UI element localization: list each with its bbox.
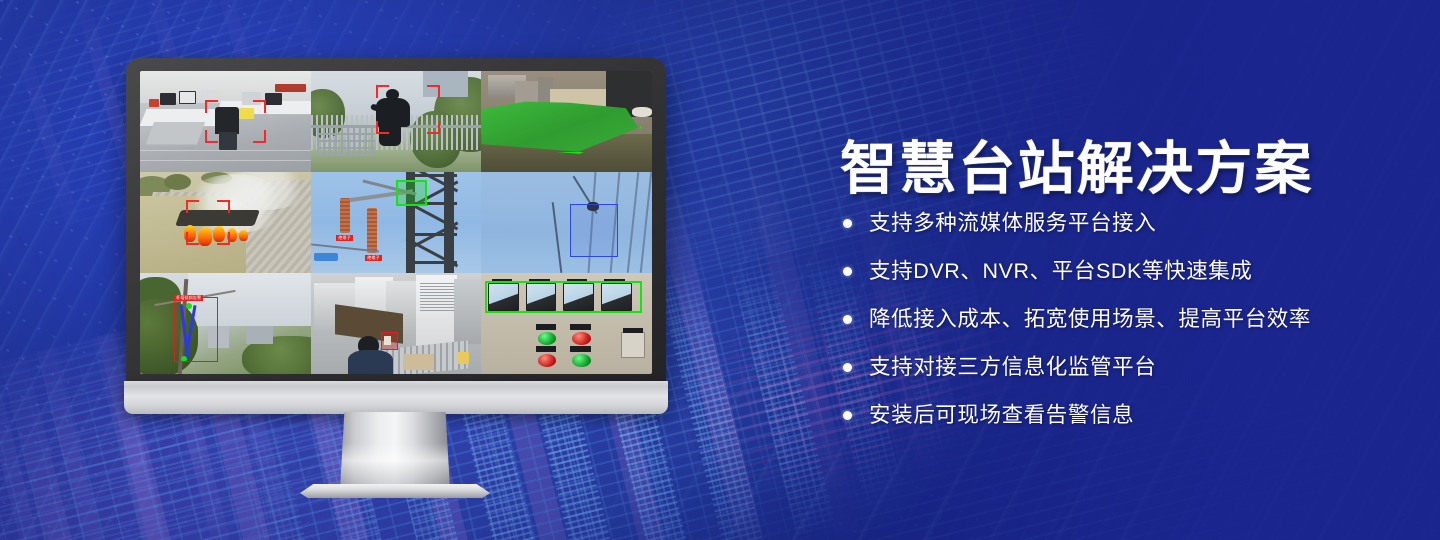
- monitor-stand-base: [300, 484, 490, 498]
- detection-zone-red: [174, 297, 218, 362]
- detection-zone-green: [396, 180, 427, 206]
- detection-bracket: [205, 100, 266, 142]
- list-item: 支持多种流媒体服务平台接入: [842, 210, 1402, 236]
- video-cell-transmission-tower[interactable]: 绝缘子 绝缘子: [311, 172, 482, 273]
- detection-bracket: [186, 200, 230, 244]
- monitor-stand-neck: [340, 412, 450, 490]
- feature-text: 支持多种流媒体服务平台接入: [869, 211, 1156, 235]
- content-panel: 智慧台站解决方案 支持多种流媒体服务平台接入 支持DVR、NVR、平台SDK等快…: [840, 0, 1440, 540]
- video-cell-electrical-control-panel[interactable]: [481, 273, 652, 374]
- video-cell-person-climbing-fence[interactable]: [311, 71, 482, 172]
- list-item: 安装后可现场查看告警信息: [842, 402, 1402, 428]
- video-cell-equipment-room-worker[interactable]: [311, 273, 482, 374]
- detection-zone-green: [485, 281, 642, 313]
- video-wall-grid: 绝缘子 绝缘子: [140, 71, 652, 374]
- bullet-dot-icon: [843, 363, 852, 372]
- bullet-dot-icon: [843, 411, 852, 420]
- detection-zone-blue: [570, 204, 618, 257]
- desktop-monitor: 绝缘子 绝缘子: [0, 0, 760, 540]
- feature-text: 支持对接三方信息化监管平台: [869, 355, 1156, 379]
- list-item: 支持DVR、NVR、平台SDK等快速集成: [842, 258, 1402, 284]
- bullet-dot-icon: [843, 219, 852, 228]
- feature-text: 降低接入成本、拓宽使用场景、提高平台效率: [869, 307, 1311, 331]
- video-cell-grass-fire[interactable]: [140, 172, 311, 273]
- monitor-screen: 绝缘子 绝缘子: [140, 71, 652, 374]
- monitor-chin: [124, 381, 668, 414]
- video-cell-green-roof-perimeter[interactable]: [481, 71, 652, 172]
- monitor-bezel: 绝缘子 绝缘子: [126, 58, 666, 384]
- video-cell-tilted-utility-pole[interactable]: 杆塔倾斜告警: [140, 273, 311, 374]
- feature-text: 支持DVR、NVR、平台SDK等快速集成: [869, 259, 1253, 283]
- detection-bracket: [376, 85, 441, 133]
- list-item: 支持对接三方信息化监管平台: [842, 354, 1402, 380]
- bullet-dot-icon: [843, 267, 852, 276]
- video-cell-bird-nest-power-line[interactable]: [481, 172, 652, 273]
- page-title: 智慧台站解决方案: [840, 139, 1314, 201]
- video-cell-office-control-room[interactable]: [140, 71, 311, 172]
- banner-stage: 绝缘子 绝缘子: [0, 0, 1440, 540]
- bullet-dot-icon: [843, 315, 852, 324]
- feature-list: 支持多种流媒体服务平台接入 支持DVR、NVR、平台SDK等快速集成 降低接入成…: [842, 210, 1402, 450]
- feature-text: 安装后可现场查看告警信息: [869, 403, 1134, 427]
- list-item: 降低接入成本、拓宽使用场景、提高平台效率: [842, 306, 1402, 332]
